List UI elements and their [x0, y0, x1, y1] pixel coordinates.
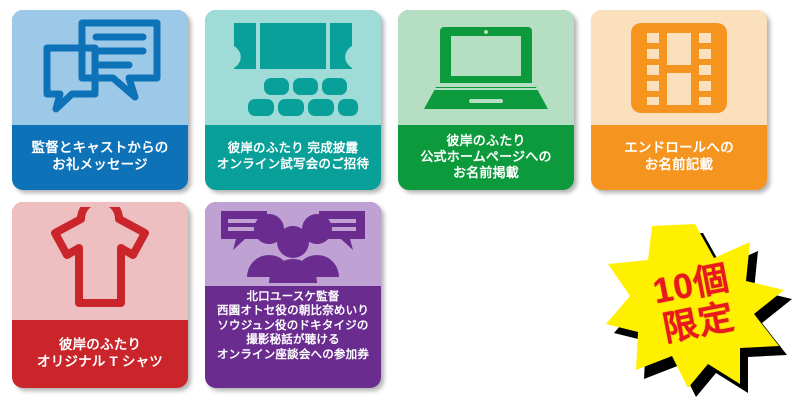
caption-line: お名前記載	[624, 157, 734, 174]
film-strip-icon	[604, 15, 754, 120]
caption-line: 彼岸のふたり	[420, 133, 551, 149]
tile-caption-website-credit: 彼岸のふたり 公式ホームページへの お名前掲載	[398, 125, 574, 190]
badge-text: 10個 限定	[589, 202, 800, 406]
tile-talk-session[interactable]: 北口ユースケ監督 西園オトセ役の朝比奈めいり ソウジュン役のドキタイジの 撮影秘…	[205, 202, 381, 388]
tile-art-website-credit	[398, 10, 574, 125]
tile-caption-tshirt: 彼岸のふたり オリジナル T シャツ	[12, 320, 188, 388]
caption-line: 彼岸のふたり	[37, 337, 163, 354]
caption-line: 北口ユースケ監督	[217, 290, 369, 304]
caption-line: 西園オトセ役の朝比奈めいり	[217, 304, 369, 318]
caption-line: 撮影秘話が聴ける	[217, 333, 369, 347]
caption-line: 監督とキャストからの	[32, 140, 169, 157]
tile-art-endroll-credit	[591, 10, 767, 125]
caption-line: ソウジュン役のドキタイジの	[217, 319, 369, 333]
tile-tshirt[interactable]: 彼岸のふたり オリジナル T シャツ	[12, 202, 188, 388]
tile-caption-talk-session: 北口ユースケ監督 西園オトセ役の朝比奈めいり ソウジュン役のドキタイジの 撮影秘…	[205, 286, 381, 388]
caption-line: お礼メッセージ	[32, 157, 169, 174]
speech-bubbles-icon	[25, 15, 175, 120]
tile-art-screening-invite	[205, 10, 381, 125]
tile-thanks-message[interactable]: 監督とキャストからの お礼メッセージ	[12, 10, 188, 190]
tile-caption-thanks-message: 監督とキャストからの お礼メッセージ	[12, 125, 188, 190]
caption-line: お名前掲載	[420, 165, 551, 181]
cinema-screen-seats-icon	[218, 15, 368, 120]
caption-line: 公式ホームページへの	[420, 149, 551, 165]
tile-endroll-credit[interactable]: エンドロールへの お名前記載	[591, 10, 767, 190]
caption-line: エンドロールへの	[624, 140, 734, 157]
caption-line: 彼岸のふたり 完成披露	[217, 141, 369, 157]
tile-website-credit[interactable]: 彼岸のふたり 公式ホームページへの お名前掲載	[398, 10, 574, 190]
caption-line: オンライン座談会への参加券	[217, 348, 369, 362]
tile-art-thanks-message	[12, 10, 188, 125]
tile-art-tshirt	[12, 202, 188, 320]
laptop-icon	[411, 15, 561, 120]
caption-line: オリジナル T シャツ	[37, 354, 163, 371]
returns-tile-board: 監督とキャストからの お礼メッセージ	[0, 0, 800, 400]
limited-quantity-badge: 10個 限定	[604, 218, 786, 390]
tile-screening-invite[interactable]: 彼岸のふたり 完成披露 オンライン試写会のご招待	[205, 10, 381, 190]
caption-line: オンライン試写会のご招待	[217, 157, 369, 173]
t-shirt-icon	[25, 207, 175, 315]
tile-art-talk-session	[205, 202, 381, 286]
people-group-chat-icon	[213, 205, 373, 283]
tile-caption-endroll-credit: エンドロールへの お名前記載	[591, 125, 767, 190]
tile-caption-screening-invite: 彼岸のふたり 完成披露 オンライン試写会のご招待	[205, 125, 381, 190]
